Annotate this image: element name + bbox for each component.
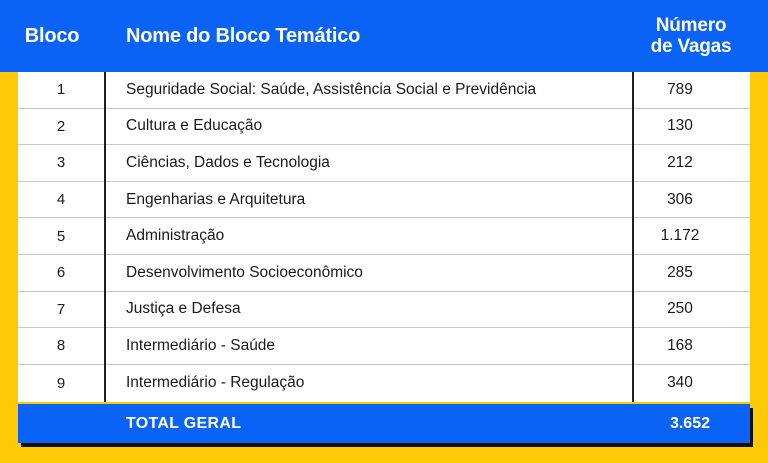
column-header-bloco: Bloco [0, 25, 104, 48]
cell-vagas: 130 [632, 117, 750, 135]
cell-nome: Administração [104, 227, 632, 245]
cell-bloco: 2 [18, 118, 104, 135]
cell-vagas: 789 [632, 81, 750, 99]
table-body: 1 Seguridade Social: Saúde, Assistência … [18, 72, 750, 402]
table-row: 1 Seguridade Social: Saúde, Assistência … [18, 72, 750, 109]
column-header-numero-line1: Número [632, 15, 750, 36]
table-row: 3 Ciências, Dados e Tecnologia 212 [18, 145, 750, 182]
cell-nome: Intermediário - Regulação [104, 374, 632, 392]
cell-vagas: 212 [632, 154, 750, 172]
total-row: TOTAL GERAL 3.652 [18, 404, 750, 443]
cell-nome: Seguridade Social: Saúde, Assistência So… [104, 81, 632, 99]
cell-bloco: 1 [18, 81, 104, 98]
table-row: 4 Engenharias e Arquitetura 306 [18, 182, 750, 219]
cell-vagas: 1.172 [632, 227, 750, 245]
cell-bloco: 7 [18, 301, 104, 318]
table-row: 6 Desenvolvimento Socioeconômico 285 [18, 255, 750, 292]
cell-bloco: 3 [18, 154, 104, 171]
table-row: 5 Administração 1.172 [18, 218, 750, 255]
cell-vagas: 285 [632, 264, 750, 282]
cell-vagas: 340 [632, 374, 750, 392]
table-row: 2 Cultura e Educação 130 [18, 109, 750, 146]
cell-nome: Justiça e Defesa [104, 300, 632, 318]
column-divider-left [104, 72, 106, 402]
cell-bloco: 8 [18, 337, 104, 354]
column-divider-right [632, 72, 634, 402]
cell-bloco: 4 [18, 191, 104, 208]
cell-vagas: 168 [632, 337, 750, 355]
cell-nome: Intermediário - Saúde [104, 337, 632, 355]
cell-nome: Ciências, Dados e Tecnologia [104, 154, 632, 172]
cell-bloco: 5 [18, 228, 104, 245]
table-row: 7 Justiça e Defesa 250 [18, 292, 750, 329]
table-row: 8 Intermediário - Saúde 168 [18, 328, 750, 365]
cell-nome: Cultura e Educação [104, 117, 632, 135]
column-header-numero-line2: de Vagas [632, 36, 750, 57]
cell-bloco: 9 [18, 375, 104, 392]
column-header-nome-do-bloco-tematico: Nome do Bloco Temático [104, 25, 632, 48]
table-card: Bloco Nome do Bloco Temático Número de V… [0, 0, 768, 463]
table-row: 9 Intermediário - Regulação 340 [18, 365, 750, 402]
cell-nome: Desenvolvimento Socioeconômico [104, 264, 632, 282]
total-label: TOTAL GERAL [126, 415, 241, 433]
cell-nome: Engenharias e Arquitetura [104, 191, 632, 209]
column-header-numero-de-vagas: Número de Vagas [632, 15, 768, 58]
table-header: Bloco Nome do Bloco Temático Número de V… [0, 0, 768, 72]
cell-vagas: 250 [632, 300, 750, 318]
cell-vagas: 306 [632, 191, 750, 209]
total-value: 3.652 [670, 415, 710, 433]
cell-bloco: 6 [18, 264, 104, 281]
